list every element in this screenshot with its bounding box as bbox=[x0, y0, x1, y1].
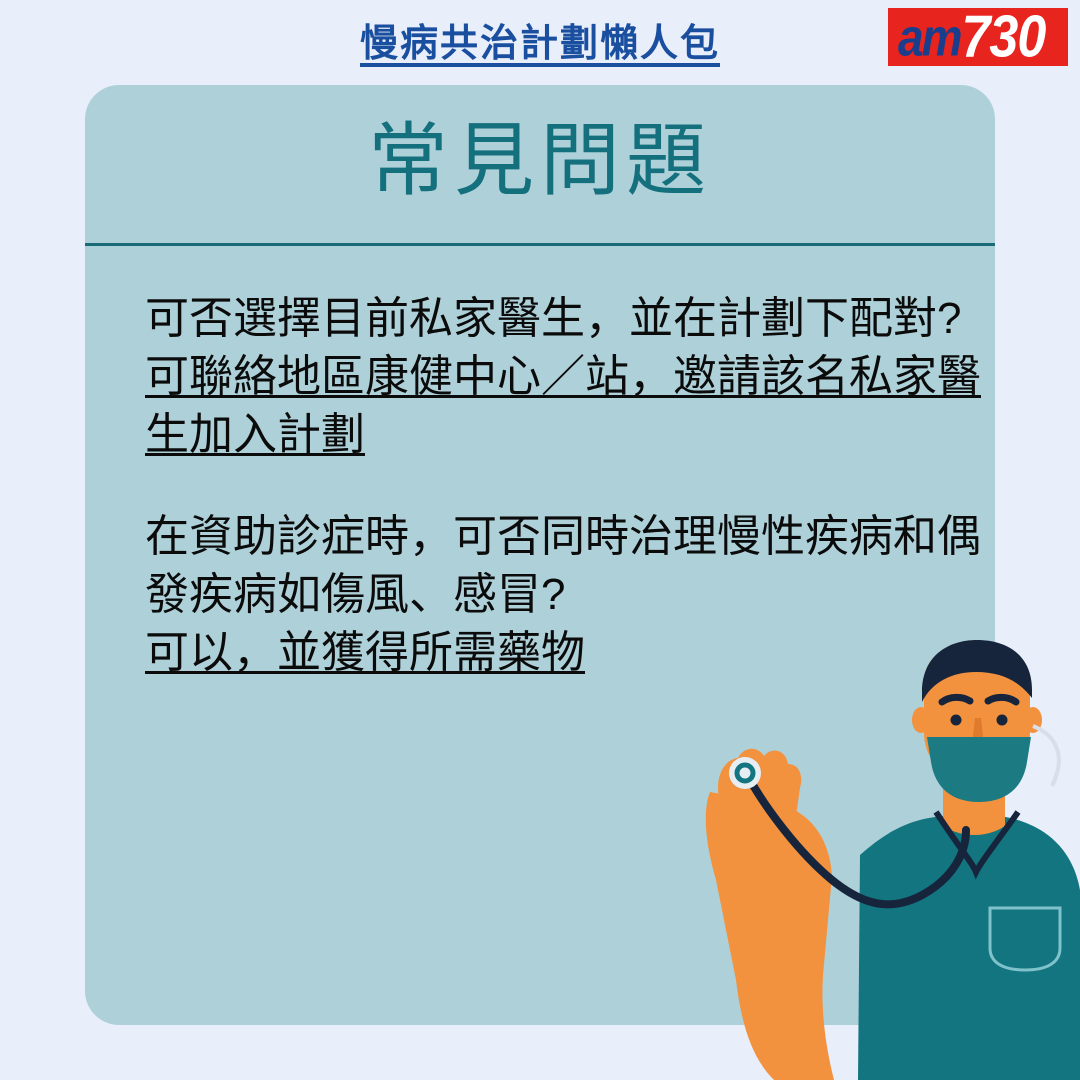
logo-730-text: 730 bbox=[961, 8, 1045, 66]
logo-am-text: am bbox=[898, 11, 960, 64]
faq-question: 可否選擇目前私家醫生，並在計劃下配對? bbox=[145, 290, 985, 348]
faq-answer: 可以，並獲得所需藥物 bbox=[145, 624, 985, 682]
scrubs-pocket bbox=[990, 908, 1060, 970]
faq-item: 在資助診症時，可否同時治理慢性疾病和偶發疾病如傷風、感冒? 可以，並獲得所需藥物 bbox=[145, 508, 985, 682]
faq-card: 常見問題 可否選擇目前私家醫生，並在計劃下配對? 可聯絡地區康健中心／站，邀請該… bbox=[85, 85, 995, 1025]
mask-strap bbox=[1033, 726, 1059, 786]
card-heading: 常見問題 bbox=[85, 121, 995, 201]
faq-item: 可否選擇目前私家醫生，並在計劃下配對? 可聯絡地區康健中心／站，邀請該名私家醫生… bbox=[145, 290, 985, 464]
am730-logo: am 730 bbox=[888, 8, 1068, 66]
faq-list: 可否選擇目前私家醫生，並在計劃下配對? 可聯絡地區康健中心／站，邀請該名私家醫生… bbox=[145, 290, 985, 726]
eye-right bbox=[997, 715, 1008, 726]
faq-question: 在資助診症時，可否同時治理慢性疾病和偶發疾病如傷風、感冒? bbox=[145, 508, 985, 624]
faq-answer: 可聯絡地區康健中心／站，邀請該名私家醫生加入計劃 bbox=[145, 348, 985, 464]
top-header-bar: 慢病共治計劃懶人包 am 730 bbox=[0, 0, 1080, 85]
heading-divider bbox=[85, 243, 995, 246]
ear-right bbox=[1024, 707, 1042, 733]
